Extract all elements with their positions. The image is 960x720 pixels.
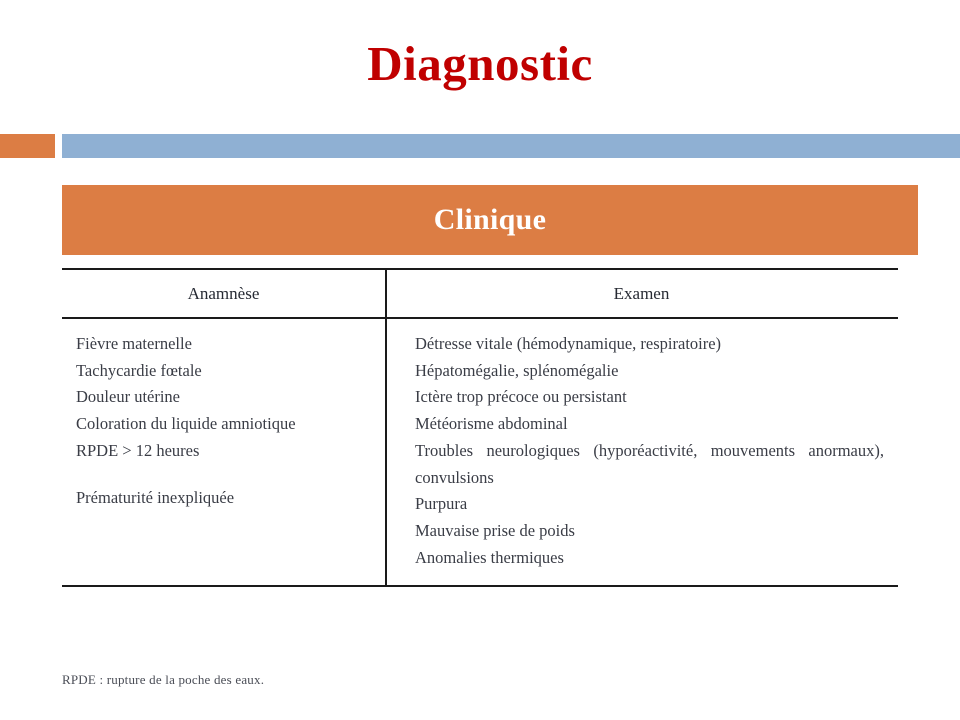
- anamnese-list: Fièvre maternelle Tachycardie fœtale Dou…: [62, 319, 385, 525]
- column-header-label-examen: Examen: [385, 270, 898, 317]
- list-item: Mauvaise prise de poids: [415, 518, 888, 545]
- list-item: Douleur utérine: [76, 384, 375, 411]
- list-item: RPDE > 12 heures: [76, 438, 375, 465]
- table-column-divider: [385, 270, 387, 317]
- list-item: Hépatomégalie, splénomégalie: [415, 358, 888, 385]
- title-divider-bar: [62, 134, 960, 158]
- list-item: Purpura: [415, 491, 888, 518]
- list-item: Fièvre maternelle: [76, 331, 375, 358]
- table-column-divider-body: [385, 319, 387, 585]
- page-title: Diagnostic: [0, 38, 960, 89]
- table-bottom-border: [62, 585, 898, 587]
- title-divider: [0, 134, 960, 158]
- list-item: Coloration du liquide amniotique: [76, 411, 375, 438]
- table-cell-anamnese: Fièvre maternelle Tachycardie fœtale Dou…: [62, 319, 385, 585]
- title-divider-accent-block: [0, 134, 55, 158]
- table-body: Fièvre maternelle Tachycardie fœtale Dou…: [62, 319, 898, 585]
- list-item: Anomalies thermiques: [415, 545, 888, 572]
- examen-list: Détresse vitale (hémodynamique, respirat…: [401, 319, 898, 585]
- column-header-label-anamnese: Anamnèse: [62, 270, 385, 317]
- table-header-cell-examen: Examen: [385, 270, 898, 317]
- clinical-table: Anamnèse Examen Fièvre maternelle Tachyc…: [62, 268, 898, 587]
- list-item: Ictère trop précoce ou persistant: [415, 384, 888, 411]
- table-cell-examen: Détresse vitale (hémodynamique, respirat…: [385, 319, 898, 585]
- list-item: Météorisme abdominal: [415, 411, 888, 438]
- list-item: Troubles neurologiques (hyporéactivité, …: [415, 438, 888, 491]
- section-banner: Clinique: [62, 185, 918, 255]
- list-item: Tachycardie fœtale: [76, 358, 375, 385]
- table-header-cell-anamnese: Anamnèse: [62, 270, 385, 317]
- list-item: Détresse vitale (hémodynamique, respirat…: [415, 331, 888, 358]
- table-header-row: Anamnèse Examen: [62, 270, 898, 317]
- list-item: Prématurité inexpliquée: [76, 485, 375, 512]
- section-banner-label: Clinique: [434, 203, 546, 237]
- table-footnote: RPDE : rupture de la poche des eaux.: [62, 672, 264, 688]
